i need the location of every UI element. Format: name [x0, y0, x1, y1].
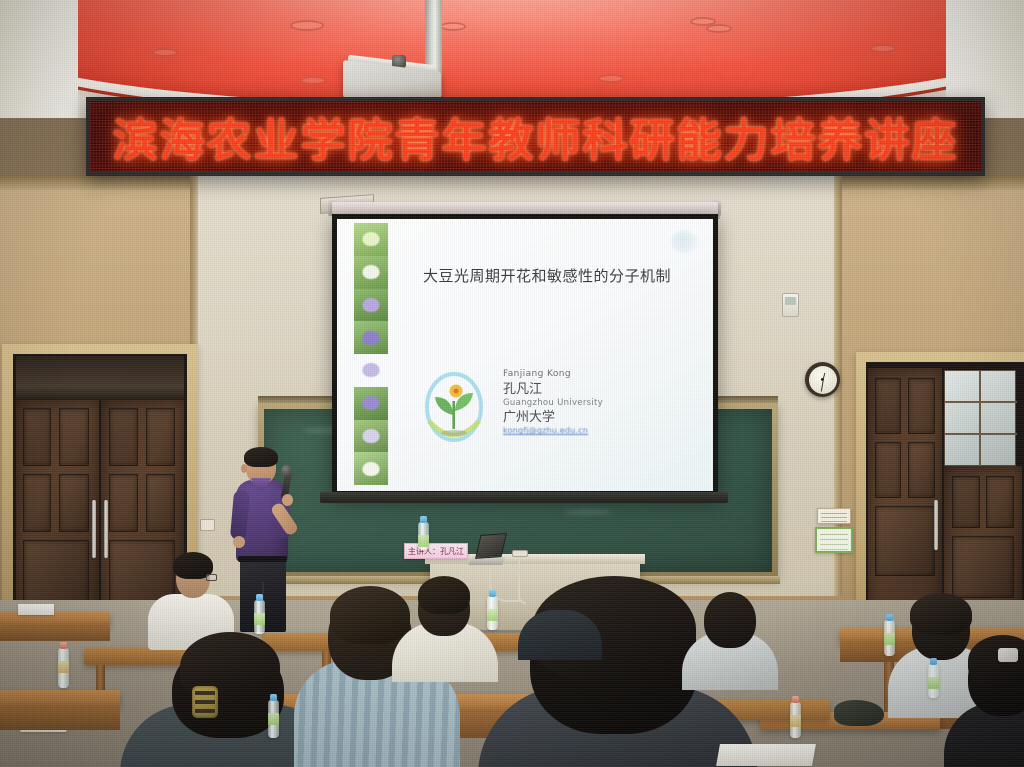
strip-photo — [354, 289, 388, 322]
screen-surface: 大豆光周期开花和敏感性的分子机制 Fanjiang Kong — [337, 219, 713, 491]
screen-weight-bar — [320, 492, 728, 503]
left-door-handle[interactable] — [104, 500, 108, 558]
attendee-torso — [518, 610, 602, 660]
ceiling-downlight — [290, 20, 324, 31]
seedling-logo — [423, 371, 485, 447]
attendee-far-right — [682, 592, 778, 666]
hair-clip — [998, 648, 1018, 662]
speaker-name-sign: 主讲人：孔凡江 — [404, 543, 468, 559]
left-door-leaf[interactable] — [16, 400, 99, 626]
handout-paper — [18, 604, 54, 615]
speaker-at-podium — [232, 450, 302, 630]
projection-screen: 大豆光周期开花和敏感性的分子机制 Fanjiang Kong — [332, 214, 718, 496]
strip-photo — [354, 321, 388, 354]
clock-face — [809, 366, 837, 394]
ac-panel-display — [785, 297, 796, 305]
microphone-head — [281, 465, 292, 476]
led-pixel-grid — [90, 101, 981, 172]
slide-photo-strip — [354, 223, 388, 485]
clock-center-dot — [821, 378, 823, 380]
attendee-pale-shirt — [392, 578, 498, 660]
wall-power-outlet[interactable] — [200, 519, 215, 531]
strip-photo — [354, 452, 388, 485]
left-door-transom — [16, 356, 184, 400]
attendee-hair — [910, 593, 972, 635]
ac-control-panel[interactable] — [782, 293, 799, 317]
screen-housing — [332, 202, 718, 214]
lecture-hall-photo: 滨海农业学院青年教师科研能力培养讲座 — [0, 0, 1024, 767]
strip-photo — [354, 256, 388, 289]
wall-clock — [805, 362, 840, 397]
water-bottle — [928, 664, 939, 698]
speaker-left-hand — [233, 536, 245, 548]
strip-photo — [354, 420, 388, 453]
attendee-right-black-top — [952, 638, 1024, 767]
water-bottle — [58, 648, 69, 688]
clock-minute-hand — [820, 380, 823, 391]
ceiling-downlight — [706, 24, 732, 33]
presentation-slide: 大豆光周期开花和敏感性的分子机制 Fanjiang Kong — [337, 219, 713, 491]
attendee-white-shirt-glasses — [148, 552, 234, 642]
chalk-smudge — [564, 509, 612, 515]
speaker-hair — [244, 447, 278, 467]
slide-email-link[interactable]: kongfj@gzhu.edu.cn — [503, 426, 603, 437]
slide-title: 大豆光周期开花和敏感性的分子机制 — [397, 265, 697, 286]
strip-photo — [354, 354, 388, 387]
led-banner: 滨海农业学院青年教师科研能力培养讲座 — [86, 97, 985, 176]
water-bottle — [418, 522, 429, 550]
slide-affiliation-cn: 广州大学 — [503, 409, 603, 426]
ceiling-downlight — [598, 74, 624, 83]
ceiling-downlight — [440, 22, 466, 31]
right-door-window — [944, 370, 1016, 466]
eyeglasses-icon — [206, 574, 217, 581]
strip-photo — [354, 387, 388, 420]
wooden-desk — [0, 612, 110, 627]
water-bottle — [884, 620, 895, 656]
right-door-handle[interactable] — [934, 500, 938, 550]
wall-notice-schedule — [817, 508, 851, 524]
handout-paper — [716, 744, 816, 766]
wooden-desk — [0, 690, 120, 708]
water-bottle — [487, 596, 498, 630]
slide-presenter-cn: 孔凡江 — [503, 381, 603, 398]
wooden-desk-front — [0, 708, 120, 730]
attendee-mid-back — [518, 574, 602, 636]
ceiling-downlight — [870, 44, 896, 53]
speaker-belt — [238, 556, 287, 562]
wooden-desk-front — [0, 627, 110, 641]
left-door-handle[interactable] — [92, 500, 96, 558]
sandal — [834, 700, 884, 726]
ceiling-downlight — [300, 76, 326, 85]
microphone-receiver[interactable] — [512, 550, 528, 557]
speaker-right-hand — [282, 494, 293, 506]
attendee-hair — [418, 576, 470, 614]
water-bottle — [790, 702, 801, 738]
slide-author-block: Fanjiang Kong 孔凡江 Guangzhou University 广… — [503, 369, 603, 437]
wall-notice-green-poster — [815, 527, 853, 553]
speaker-ear — [241, 464, 247, 473]
ceiling-left-panel — [0, 0, 78, 118]
water-bottle — [268, 700, 279, 738]
attendee-head — [704, 592, 756, 648]
slide-affiliation-en: Guangzhou University — [503, 398, 603, 409]
slide-corner-watermark — [671, 231, 697, 253]
ceiling-downlight — [152, 48, 178, 57]
water-bottle — [254, 600, 265, 634]
strip-photo — [354, 223, 388, 256]
slide-presenter-en: Fanjiang Kong — [503, 369, 603, 381]
